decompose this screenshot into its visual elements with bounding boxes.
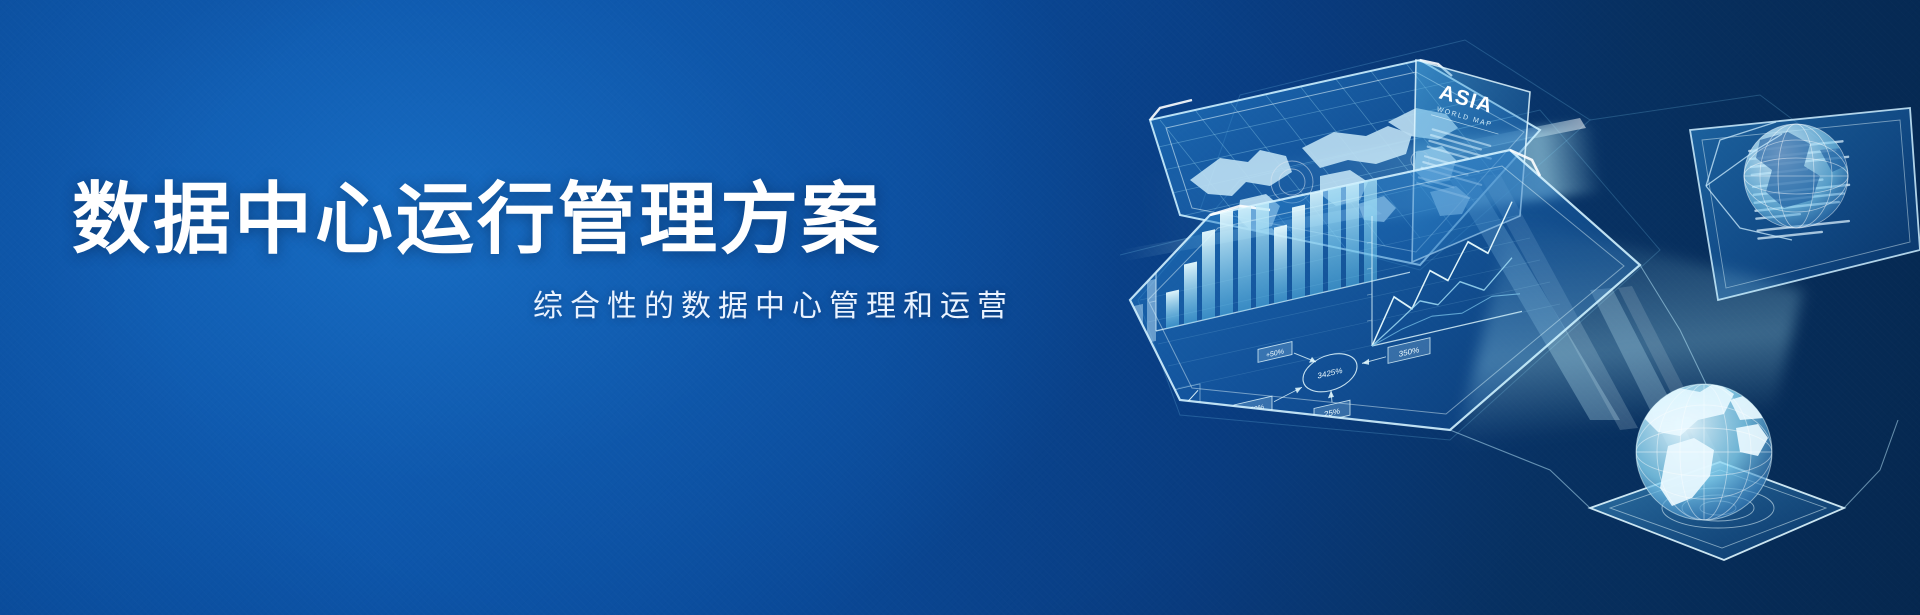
page-subtitle: 综合性的数据中心管理和运营 [72,281,1032,325]
globe-platform [1590,382,1844,560]
hero-banner: ASIA WORLD MAP [0,0,1920,615]
hero-text-block: 数据中心运行管理方案 综合性的数据中心管理和运营 [72,178,1032,325]
hud-illustration: ASIA WORLD MAP [1120,0,1920,615]
page-title: 数据中心运行管理方案 [72,178,1032,261]
secondary-bar-chart [1120,279,1156,352]
